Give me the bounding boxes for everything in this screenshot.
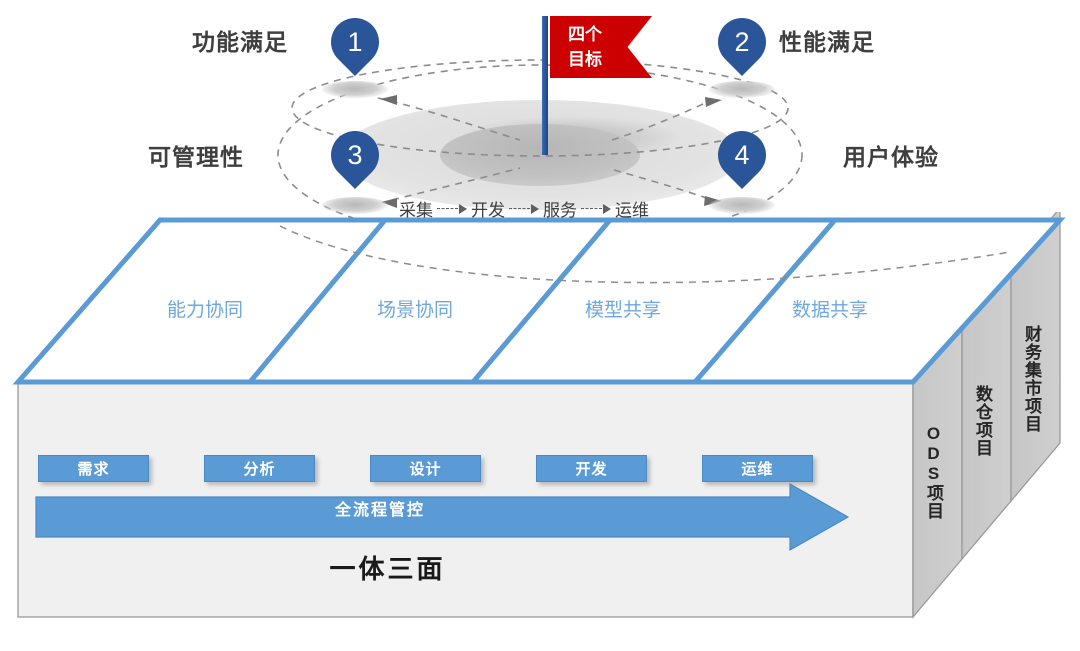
four-goals-flag: 四个 目标	[542, 16, 652, 78]
map-pin-icon-4[interactable]: 4	[718, 131, 766, 199]
side-panel-label-ods: ODS项目	[921, 424, 946, 520]
goal-label-user-experience: 用户体验	[843, 138, 939, 172]
top-face-label-scenario: 场景协同	[377, 295, 453, 322]
three-face-box: 能力协同 场景协同 模型共享 数据共享 ODS项目 数仓项目 财务集市项目 需求…	[0, 212, 1080, 642]
pin-number-4: 4	[718, 135, 766, 175]
diagram-canvas: 功能满足 性能满足 可管理性 用户体验 1 2 3 4	[0, 0, 1080, 651]
stage-button-development[interactable]: 开发	[536, 455, 647, 482]
goal-label-functionality: 功能满足	[192, 23, 288, 57]
map-pin-icon-1[interactable]: 1	[331, 18, 379, 86]
top-face-label-data: 数据共享	[792, 295, 868, 322]
map-pin-icon-2[interactable]: 2	[718, 18, 766, 86]
page-title: 一体三面	[0, 549, 775, 586]
flag-label-line1: 四个	[556, 22, 614, 47]
map-pin-icon-3[interactable]: 3	[331, 131, 379, 199]
center-hole-ellipse	[440, 124, 640, 186]
arrow-head-orbit-left-top	[380, 95, 397, 105]
side-panel-label-finance-mart: 财务集市项目	[1019, 325, 1044, 433]
pin-number-3: 3	[331, 135, 379, 175]
goal-label-performance: 性能满足	[779, 23, 875, 57]
stage-button-operations[interactable]: 运维	[702, 455, 813, 482]
side-panel-label-dw: 数仓项目	[970, 385, 995, 457]
flag-label: 四个 目标	[556, 22, 614, 72]
pin-number-2: 2	[718, 22, 766, 62]
pin-number-1: 1	[331, 22, 379, 62]
flag-label-line2: 目标	[556, 47, 614, 72]
goal-label-manageability: 可管理性	[148, 138, 244, 172]
stage-button-requirement[interactable]: 需求	[38, 455, 149, 482]
top-face-label-capability: 能力协同	[167, 295, 243, 322]
top-face-label-model: 模型共享	[585, 295, 661, 322]
stage-button-design[interactable]: 设计	[370, 455, 481, 482]
arrow-head-to-pin2	[705, 97, 722, 107]
stage-button-analysis[interactable]: 分析	[204, 455, 315, 482]
